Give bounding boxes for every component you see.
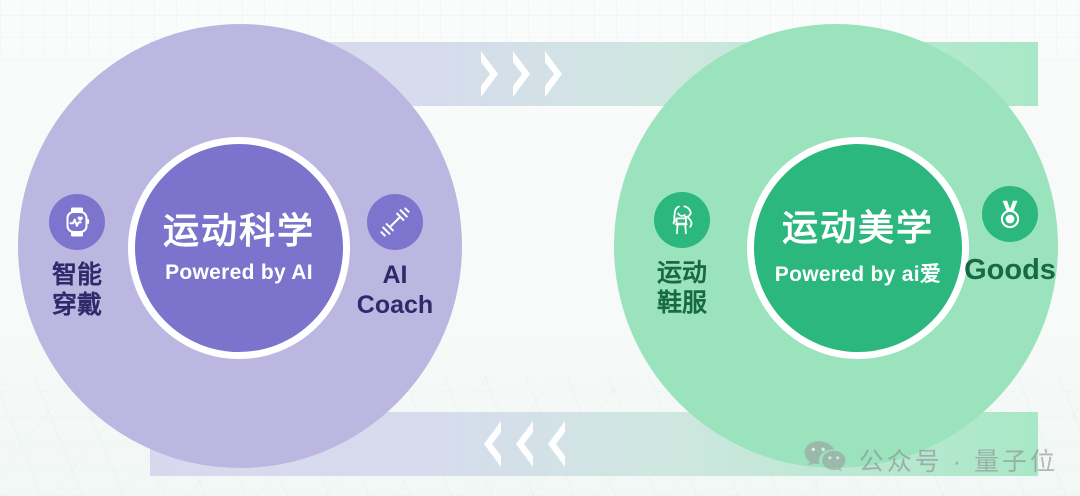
watermark-text: 公众号 · 量子位: [859, 442, 1058, 478]
satellite-smart-wearable[interactable]: 智能 穿戴: [12, 194, 142, 320]
right-core-subtitle: Powered by ai爱: [775, 258, 941, 288]
dumbbell-icon: [367, 194, 423, 250]
diagram-canvas: 运动科学 Powered by AI 运动美学 Powered by ai爱 智…: [0, 0, 1080, 496]
chevron-group-right: [478, 48, 568, 100]
right-core-node[interactable]: 运动美学 Powered by ai爱: [747, 137, 969, 359]
satellite-ai-coach[interactable]: AI Coach: [330, 194, 460, 320]
sportswear-person-icon: [654, 192, 710, 248]
left-core-node[interactable]: 运动科学 Powered by AI: [128, 137, 350, 359]
satellite-label: AI Coach: [357, 261, 433, 320]
satellite-label: 智能 穿戴: [52, 261, 102, 320]
satellite-goods[interactable]: Goods: [945, 186, 1075, 287]
satellite-label: Goods: [964, 253, 1056, 287]
smartwatch-heartbeat-icon: [49, 194, 105, 250]
satellite-label: 运动 鞋服: [657, 259, 707, 318]
right-core-title: 运动美学: [782, 208, 934, 248]
medal-icon: [982, 186, 1038, 242]
chevron-right-icon: [542, 48, 568, 100]
left-core-subtitle: Powered by AI: [165, 261, 313, 285]
wechat-icon: [803, 439, 847, 480]
chevron-left-icon: [510, 418, 536, 470]
left-core-title: 运动科学: [163, 211, 315, 251]
chevron-right-icon: [510, 48, 536, 100]
watermark: 公众号 · 量子位: [803, 439, 1058, 480]
chevron-group-left: [478, 418, 568, 470]
satellite-sports-apparel[interactable]: 运动 鞋服: [617, 192, 747, 318]
chevron-right-icon: [478, 48, 504, 100]
chevron-left-icon: [478, 418, 504, 470]
chevron-left-icon: [542, 418, 568, 470]
